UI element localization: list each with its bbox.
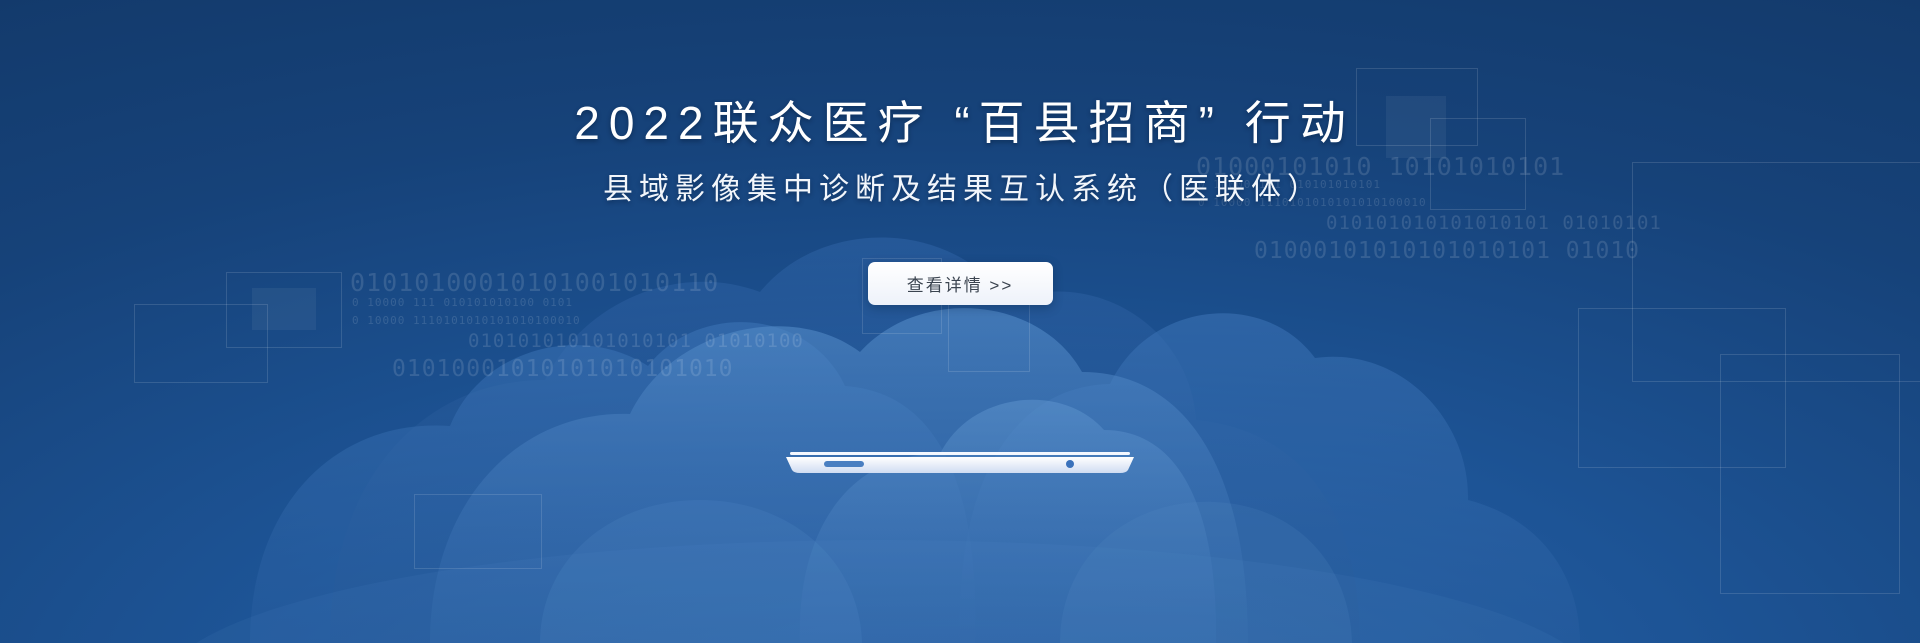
banner-title: 2022联众医疗 “百县招商” 行动 (565, 96, 1355, 150)
promo-banner: 01010100010101001010110 0 10000 111 0101… (0, 0, 1920, 643)
banner-content: 2022联众医疗 “百县招商” 行动 县域影像集中诊断及结果互认系统（医联体） … (0, 0, 1920, 643)
laptop-base-icon (786, 452, 1134, 474)
view-details-button[interactable]: 查看详情 >> (868, 262, 1053, 305)
banner-subtitle: 县域影像集中诊断及结果互认系统（医联体） (597, 170, 1323, 210)
